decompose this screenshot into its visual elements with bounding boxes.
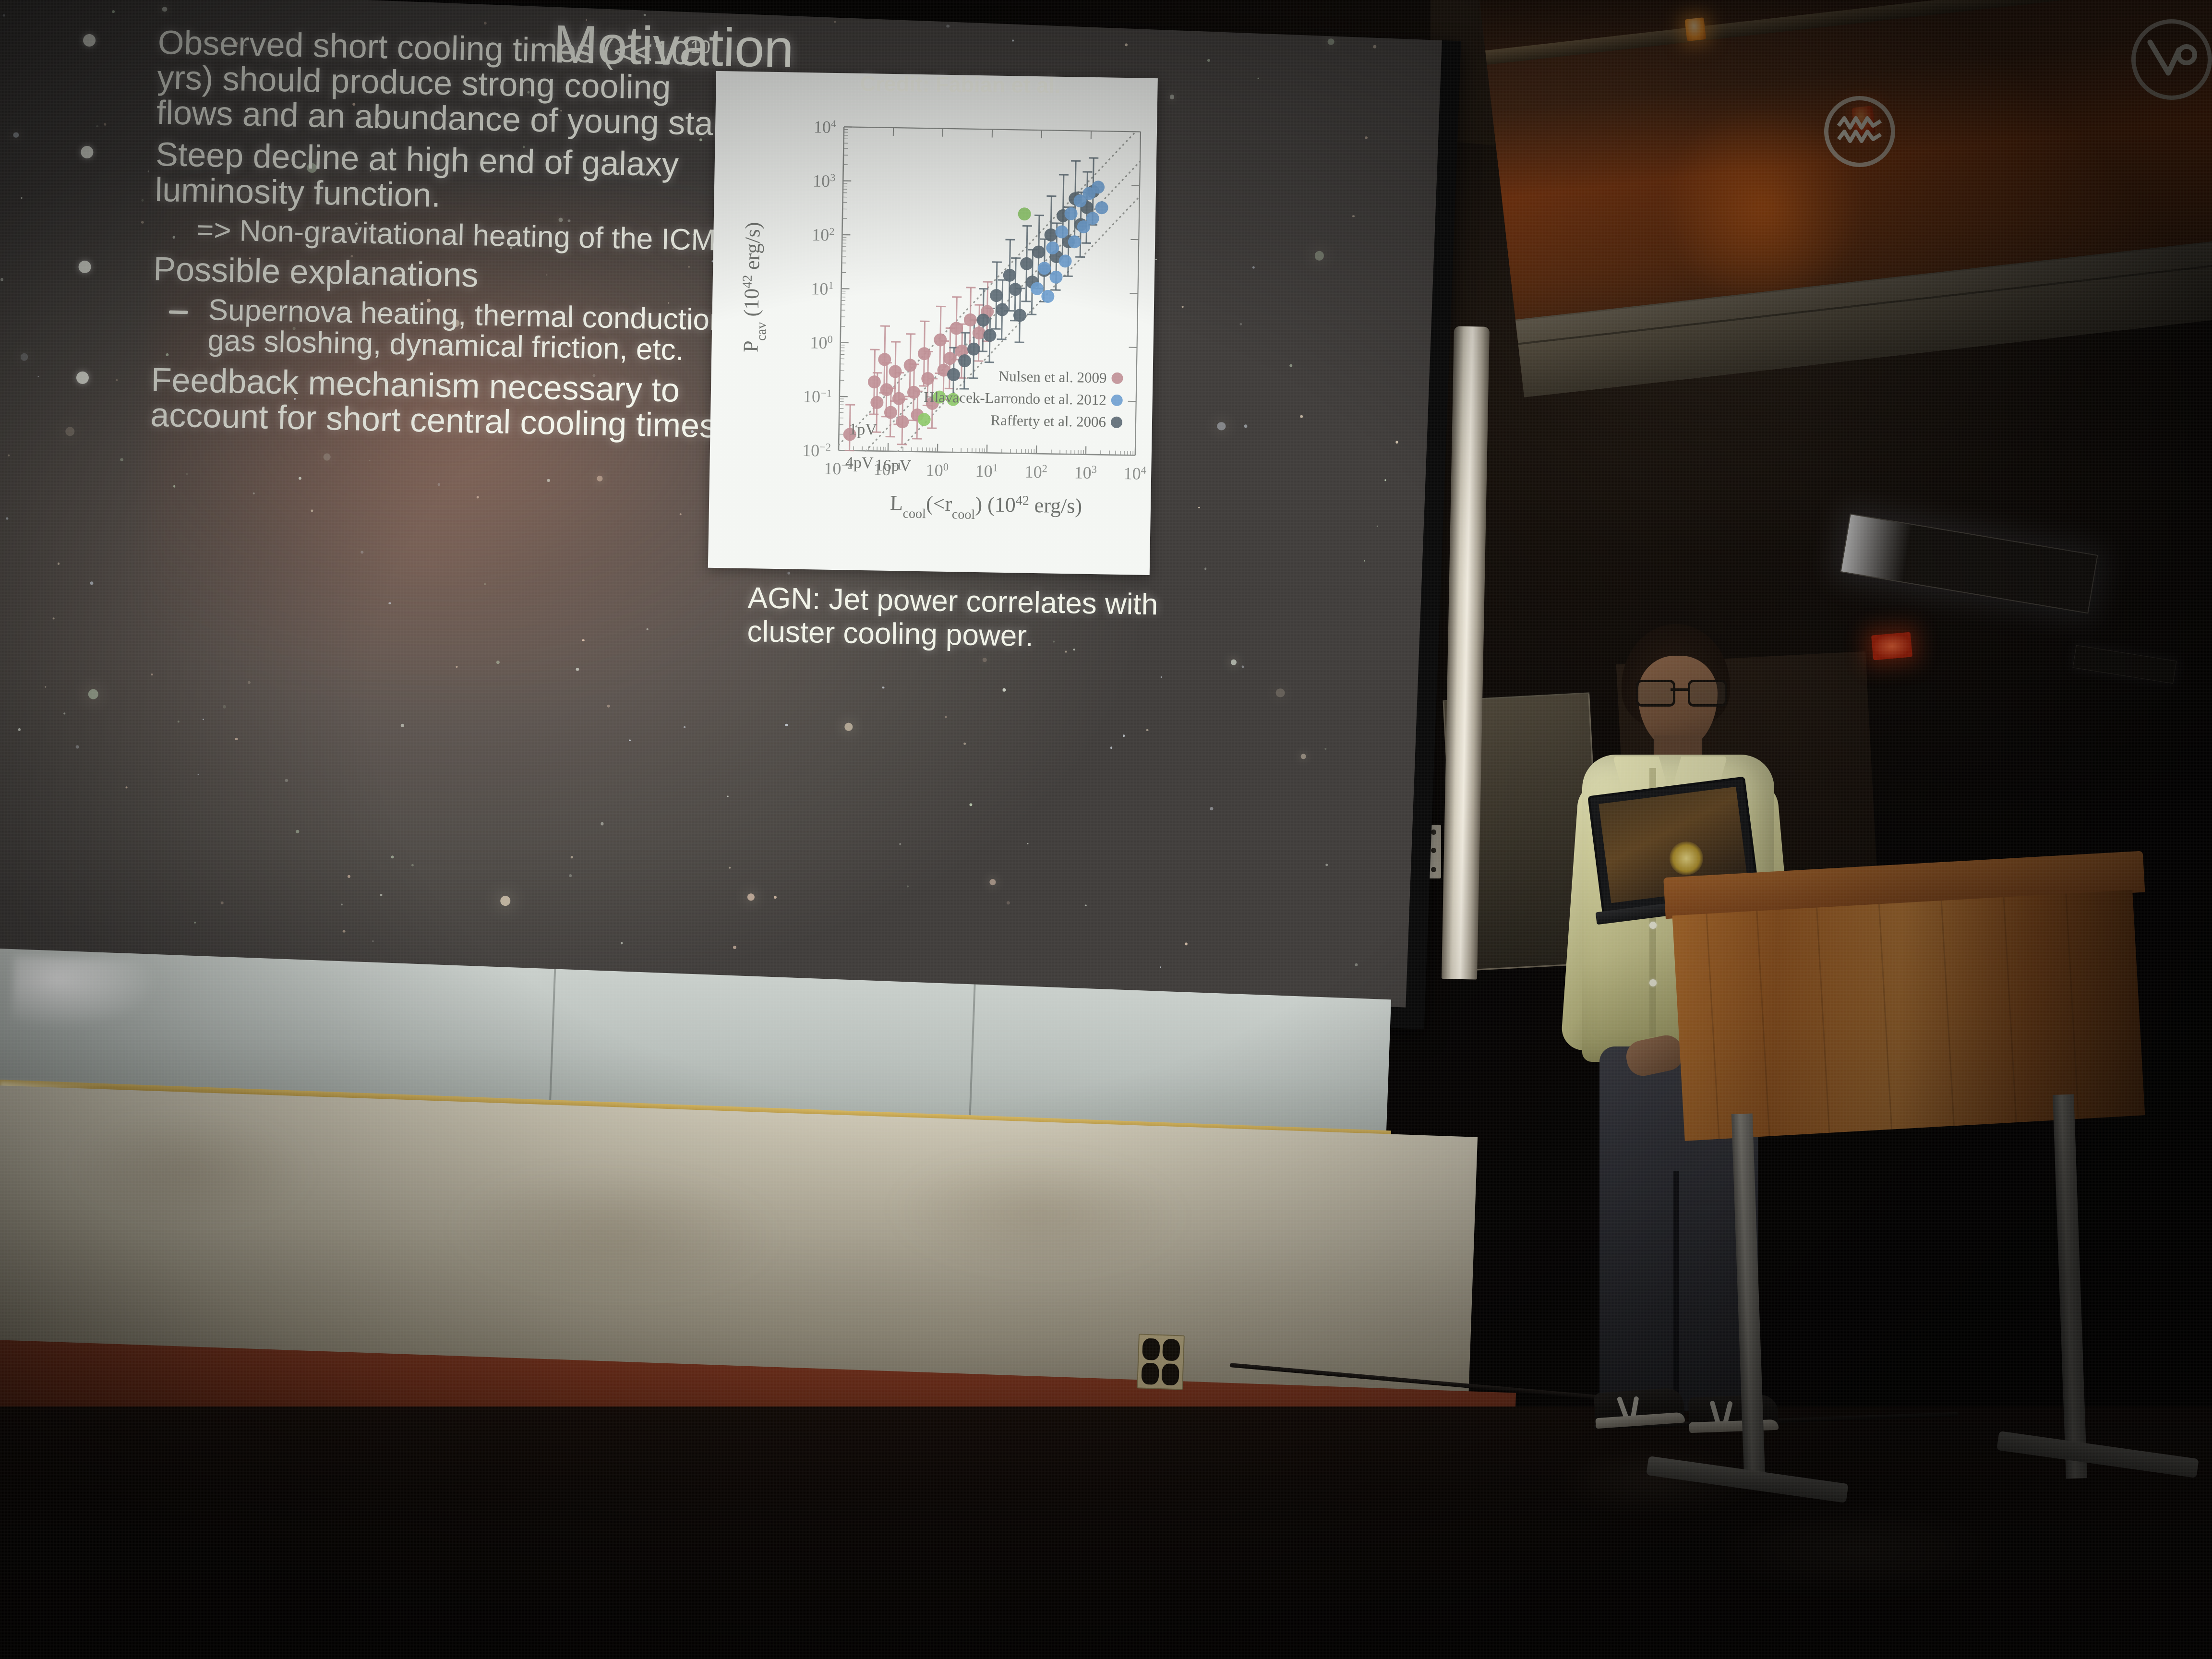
- projection-screen: Motivation Observed short cooling times …: [0, 0, 1461, 1029]
- quad-outlet-icon: [1137, 1334, 1185, 1390]
- svg-text:103: 103: [813, 171, 836, 191]
- bullet-1-exponent: 10: [690, 37, 711, 58]
- bullet-dash-icon: [169, 310, 188, 314]
- balcony-railing: [1479, 0, 2212, 391]
- svg-text:16pV: 16pV: [875, 457, 912, 475]
- svg-text:Nulsen et al. 2009: Nulsen et al. 2009: [998, 368, 1107, 386]
- svg-text:Hlavacek-Larrondo et al. 2012: Hlavacek-Larrondo et al. 2012: [924, 388, 1106, 408]
- bullet-item-2: Steep decline at high end of galaxy lumi…: [114, 136, 754, 219]
- presenter-shoe: [1688, 1395, 1779, 1433]
- svg-text:104: 104: [814, 117, 837, 137]
- floor: [0, 1407, 2212, 1659]
- zigzag-medallion-icon: [1824, 96, 1895, 167]
- amber-wall-light-icon: [1684, 17, 1706, 41]
- bullet-item-5: Supernova heating, thermal conduction, g…: [111, 293, 751, 368]
- podium: [1663, 851, 2158, 1146]
- bullet-dot-icon: [81, 146, 94, 159]
- scatter-plot-svg: 10−210−110010110210310410−210−1100101102…: [708, 71, 1158, 575]
- bullet-item-1: Observed short cooling times (<<1010 yrs…: [116, 24, 756, 142]
- figure-caption: AGN: Jet power correlates with cluster c…: [747, 581, 1209, 656]
- svg-text:Lcool(<rcool) (1042 erg/s): Lcool(<rcool) (1042 erg/s): [890, 491, 1082, 524]
- bullet-dot-icon: [78, 261, 91, 274]
- bullet-item-6: Feedback mechanism necessary to account …: [110, 361, 750, 445]
- bullet-item-3: => Non-gravitational heating of the ICM: [114, 213, 753, 257]
- slide-figure: Credit: Fabian et al. 10−210−11001011021…: [706, 71, 1191, 698]
- bullet-dot-icon: [76, 372, 89, 385]
- bullet-3-text: => Non-gravitational heating of the ICM: [114, 213, 753, 257]
- eyeglasses-icon: [1636, 680, 1722, 702]
- bullet-1-text-tail: yrs) should produce strong cooling flows…: [156, 59, 751, 143]
- emergency-light-icon: [1871, 632, 1912, 661]
- lecture-hall-photo: Motivation Observed short cooling times …: [0, 0, 2212, 1659]
- bullet-item-4: Possible explanations: [113, 251, 752, 299]
- svg-text:Pcav (1042 erg/s): Pcav (1042 erg/s): [739, 222, 770, 352]
- svg-text:101: 101: [811, 279, 834, 299]
- scatter-plot: 10−210−110010110210310410−210−1100101102…: [708, 71, 1158, 575]
- bullet-5-text: Supernova heating, thermal conduction, g…: [111, 293, 751, 368]
- svg-text:Rafferty et al. 2006: Rafferty et al. 2006: [990, 411, 1106, 430]
- svg-text:103: 103: [1074, 463, 1097, 482]
- v-letter-medallion-icon: [2131, 19, 2212, 100]
- svg-text:4pV: 4pV: [845, 454, 874, 472]
- svg-text:104: 104: [1123, 464, 1146, 483]
- svg-text:10−2: 10−2: [802, 440, 831, 460]
- presenter-leg-gap: [1673, 1171, 1679, 1411]
- bullet-6-text: Feedback mechanism necessary to account …: [110, 361, 750, 445]
- figure-credit: Credit: Fabian et al.: [860, 71, 1060, 98]
- presenter-shoe: [1594, 1387, 1685, 1429]
- svg-text:102: 102: [1024, 462, 1047, 481]
- slide-bullet-list: Observed short cooling times (<<1010 yrs…: [109, 24, 756, 451]
- svg-text:100: 100: [926, 460, 949, 480]
- svg-text:1pV: 1pV: [849, 421, 878, 439]
- shirt-button-icon: [1649, 922, 1657, 929]
- svg-text:101: 101: [975, 461, 998, 481]
- bullet-2-text: Steep decline at high end of galaxy lumi…: [114, 136, 754, 219]
- presentation-slide: Motivation Observed short cooling times …: [0, 0, 1442, 1008]
- svg-text:102: 102: [812, 225, 835, 244]
- bullet-dot-icon: [83, 34, 96, 47]
- shirt-button-icon: [1649, 979, 1657, 986]
- svg-text:100: 100: [810, 333, 833, 352]
- svg-text:10−1: 10−1: [803, 386, 832, 406]
- bullet-4-text: Possible explanations: [113, 251, 752, 299]
